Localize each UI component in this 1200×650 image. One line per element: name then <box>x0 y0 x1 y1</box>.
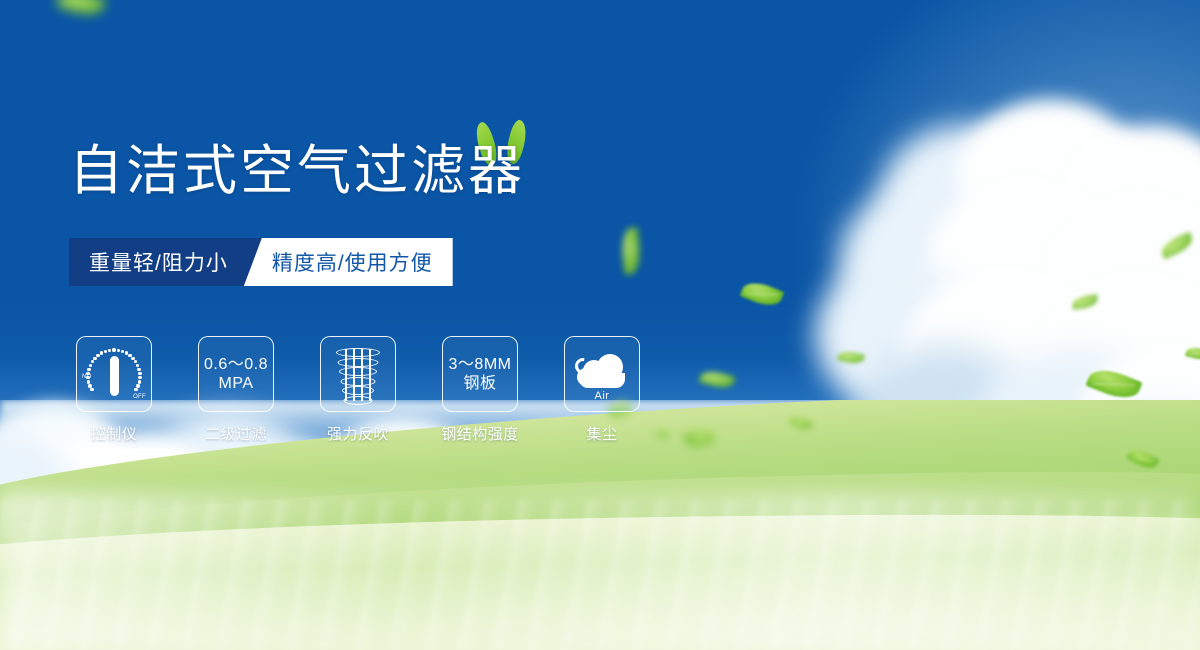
filter-disc <box>344 396 373 405</box>
pressure-value-line1: 0.6～0.8 <box>204 355 268 374</box>
cloud-base <box>579 373 625 388</box>
feature-caption: 二级过滤 <box>205 423 267 444</box>
gauge-tick <box>104 350 107 353</box>
steel-value-line1: 3～8MM <box>449 355 512 374</box>
subtitle-bar: 重量轻/阻力小 精度高/使用方便 <box>69 238 453 286</box>
feature-item-dust[interactable]: Air 集尘 <box>564 336 640 444</box>
filter-disc <box>338 358 379 367</box>
gauge-tick <box>112 348 115 351</box>
subtitle-right: 精度高/使用方便 <box>244 238 453 286</box>
gauge-tick <box>89 364 92 367</box>
filter-stack-icon <box>333 345 383 403</box>
gauge-tick <box>88 384 91 387</box>
feature-icon-box: Air <box>564 336 640 412</box>
gauge-tick <box>138 376 141 379</box>
feature-caption: 强力反吹 <box>327 423 389 444</box>
steel-text-icon: 3～8MM 钢板 <box>449 355 512 393</box>
feature-caption: 钢结构强度 <box>441 423 519 444</box>
feature-list: NO OFF 控制仪 0.6～0.8 MPA 二级过滤 强 <box>76 336 640 444</box>
filter-disc <box>339 367 377 376</box>
filter-disc <box>341 377 376 386</box>
subtitle-left: 重量轻/阻力小 <box>69 238 262 286</box>
gauge-tick <box>86 372 89 375</box>
gauge-tick <box>87 368 90 371</box>
feature-icon-box <box>320 336 396 412</box>
gauge-tick <box>91 360 94 363</box>
gauge-tick <box>100 351 103 354</box>
gauge-tick <box>93 357 96 360</box>
steel-value-line2: 钢板 <box>449 374 512 393</box>
filter-disc <box>342 386 374 395</box>
pressure-value-line2: MPA <box>204 374 268 393</box>
feature-item-pressure[interactable]: 0.6～0.8 MPA 二级过滤 <box>198 336 274 444</box>
gauge-tick <box>138 380 141 383</box>
feature-icon-box: 0.6～0.8 MPA <box>198 336 274 412</box>
gauge-tick <box>108 349 111 352</box>
feature-item-backblow[interactable]: 强力反吹 <box>320 336 396 444</box>
gauge-tick <box>137 368 140 371</box>
page-title: 自洁式空气过滤器 <box>69 144 525 198</box>
feature-icon-box: 3～8MM 钢板 <box>442 336 518 412</box>
gauge-tick <box>134 360 137 363</box>
gauge-tick <box>136 364 139 367</box>
air-cloud-icon: Air <box>573 348 631 400</box>
air-label: Air <box>573 390 631 402</box>
feature-item-steel[interactable]: 3～8MM 钢板 钢结构强度 <box>442 336 518 444</box>
gauge-needle <box>110 356 119 396</box>
gauge-tick <box>138 372 141 375</box>
pressure-text-icon: 0.6～0.8 MPA <box>204 355 268 393</box>
gauge-tick <box>117 349 120 352</box>
gauge-label-off: OFF <box>133 394 146 400</box>
feature-item-controller[interactable]: NO OFF 控制仪 <box>76 336 152 444</box>
feature-caption: 控制仪 <box>91 423 138 444</box>
filter-disc <box>336 348 380 357</box>
gauge-tick <box>90 388 93 391</box>
feature-caption: 集尘 <box>586 423 617 444</box>
gauge-tick <box>134 388 137 391</box>
gauge-icon: NO OFF <box>83 343 145 405</box>
gauge-tick <box>87 380 90 383</box>
feature-icon-box: NO OFF <box>76 336 152 412</box>
gauge-tick <box>121 350 124 353</box>
